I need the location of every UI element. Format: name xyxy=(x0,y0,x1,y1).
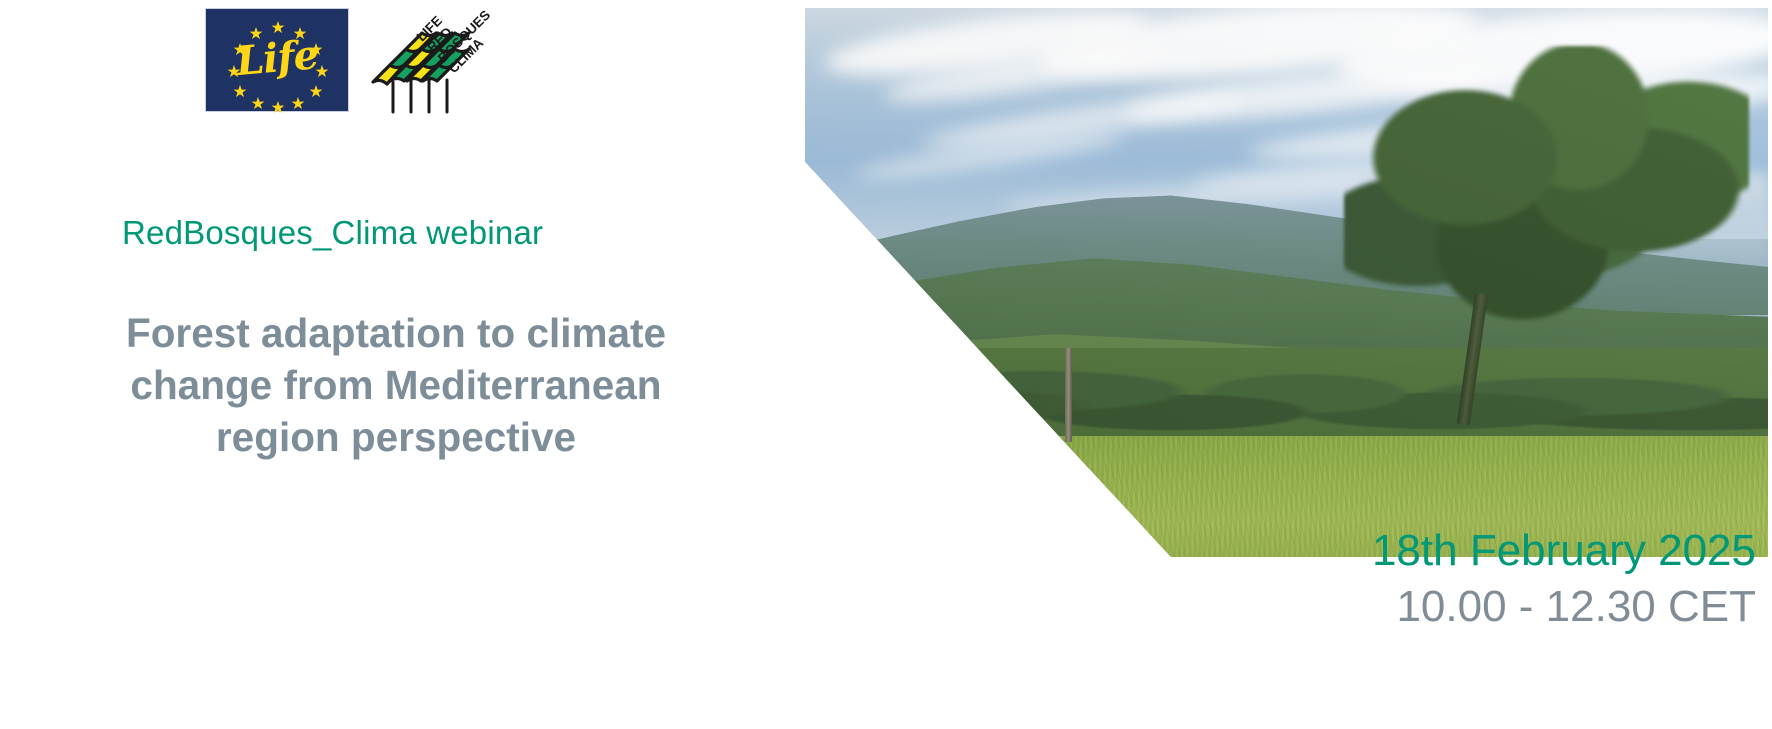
logo-row: Life xyxy=(205,8,496,118)
life-eu-logo: Life xyxy=(205,8,349,112)
page-title-line-2: change from Mediterranean xyxy=(66,360,726,412)
tree-canopy xyxy=(1344,46,1748,364)
page-title-line-3: region perspective xyxy=(66,412,726,464)
fence-post xyxy=(1065,348,1072,441)
page-title: Forest adaptation to climate change from… xyxy=(66,308,726,463)
webinar-series-label: RedBosques_Clima webinar xyxy=(122,214,543,252)
red-bosques-svg: LIFE RED BOSQUES CLIMA xyxy=(371,8,496,118)
event-time: 10.00 - 12.30 CET xyxy=(1056,580,1756,634)
mountain-landscape-photo xyxy=(805,8,1768,557)
schedule-block: 18th February 2025 10.00 - 12.30 CET xyxy=(1056,524,1756,633)
event-date: 18th February 2025 xyxy=(1056,524,1756,578)
webinar-poster: Life xyxy=(0,0,1772,729)
life-red-bosques-clima-logo: LIFE RED BOSQUES CLIMA xyxy=(371,8,496,118)
life-wordmark: Life xyxy=(234,31,320,85)
page-title-line-1: Forest adaptation to climate xyxy=(66,308,726,360)
photo-scene xyxy=(805,8,1768,557)
